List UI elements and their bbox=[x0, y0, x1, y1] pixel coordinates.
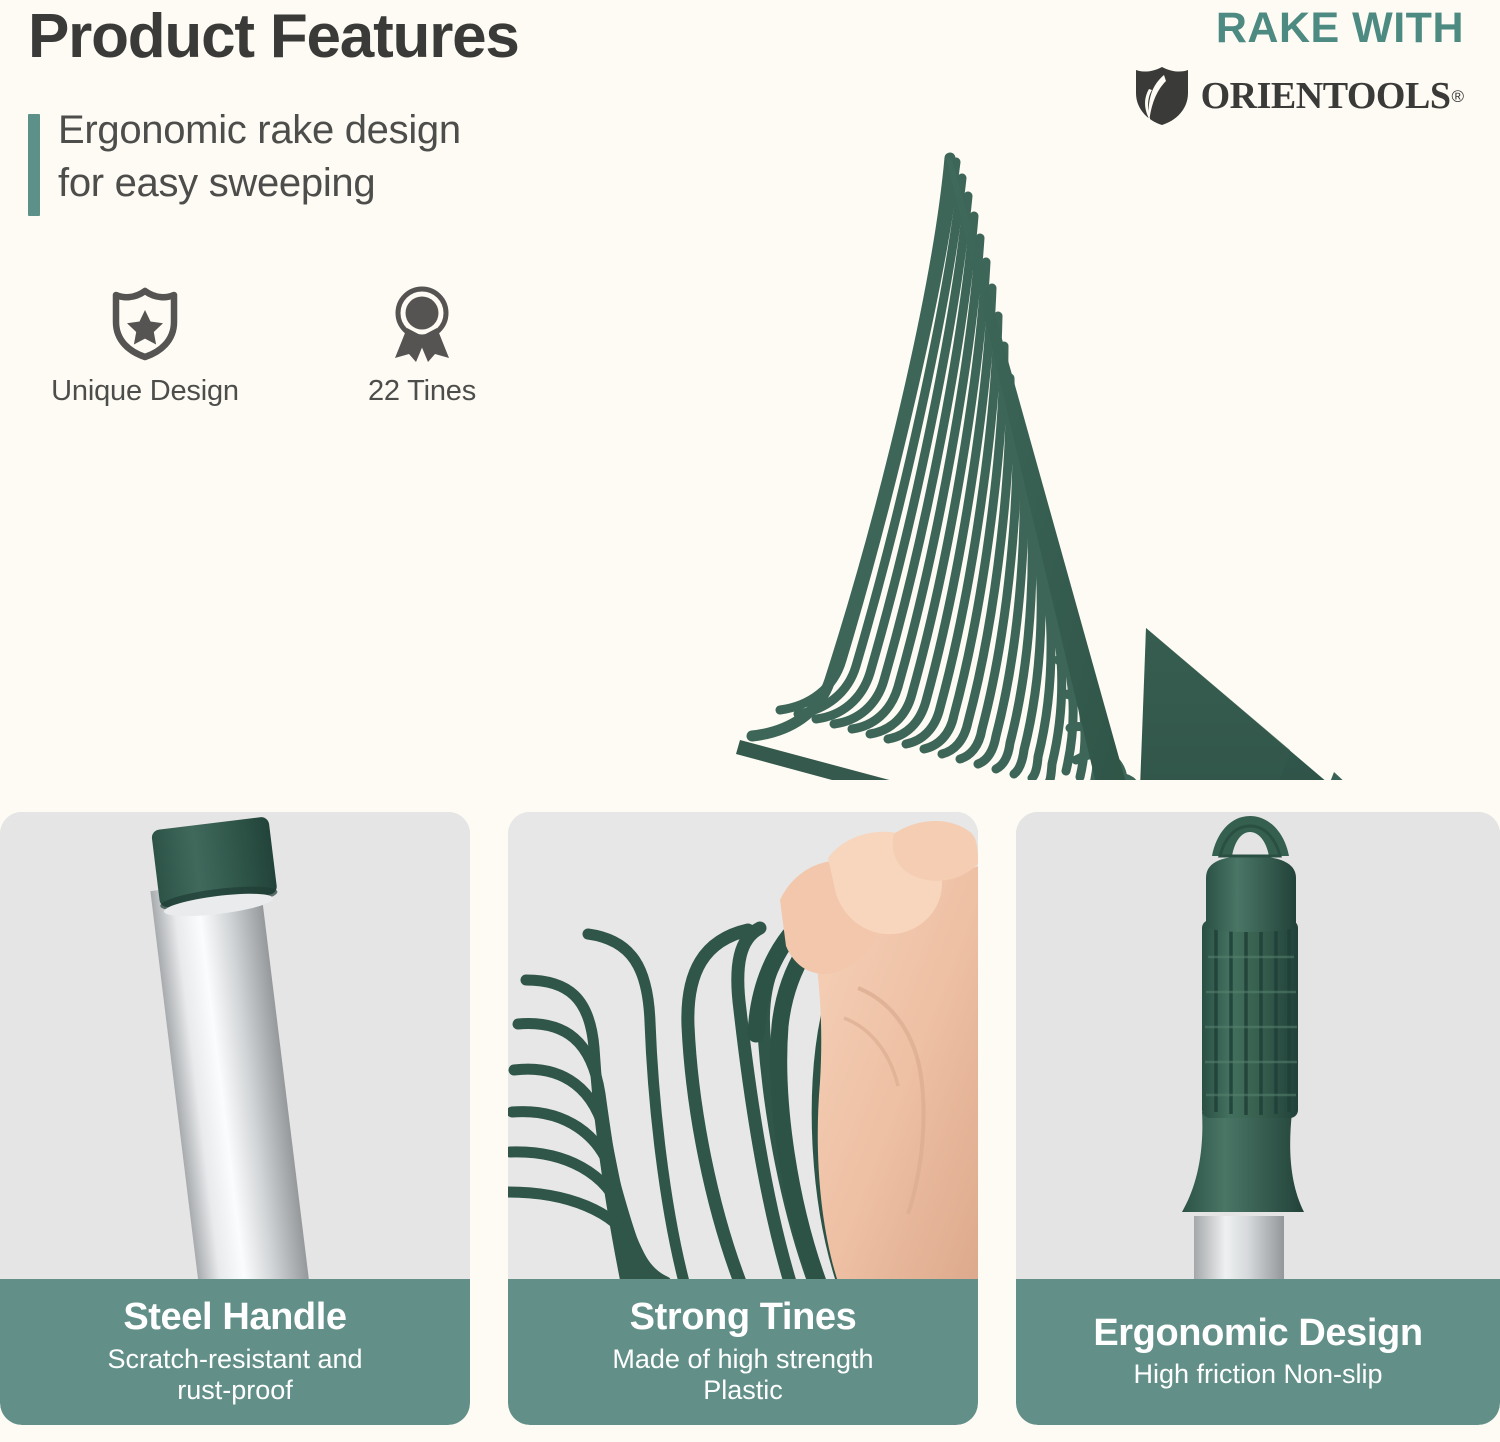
steel-handle-photo bbox=[0, 812, 470, 1282]
card-subtitle-line-2: rust-proof bbox=[107, 1375, 362, 1407]
feature-label: 22 Tines bbox=[312, 375, 532, 408]
card-title: Steel Handle bbox=[123, 1297, 346, 1339]
card-subtitle: Scratch-resistant and rust-proof bbox=[107, 1344, 362, 1408]
card-ergonomic-design[interactable]: Ergonomic Design High friction Non-slip bbox=[1016, 812, 1500, 1425]
card-title: Strong Tines bbox=[630, 1297, 857, 1339]
feature-cards-row: Steel Handle Scratch-resistant and rust-… bbox=[0, 812, 1500, 1442]
card-subtitle-line-1: Made of high strength bbox=[612, 1344, 873, 1376]
registered-trademark-symbol: ® bbox=[1451, 87, 1464, 106]
page-title: Product Features bbox=[28, 4, 519, 69]
page-subtitle: Ergonomic rake design for easy sweeping bbox=[58, 104, 461, 210]
card-title: Ergonomic Design bbox=[1093, 1313, 1422, 1355]
card-steel-handle[interactable]: Steel Handle Scratch-resistant and rust-… bbox=[0, 812, 470, 1425]
brand-lockup-container: RAKE WITH ORIENTOOLS® bbox=[1114, 6, 1464, 127]
subtitle-line-1: Ergonomic rake design bbox=[58, 104, 461, 157]
shield-star-icon bbox=[35, 285, 255, 363]
card-caption: Steel Handle Scratch-resistant and rust-… bbox=[0, 1279, 470, 1425]
shield-leaf-icon bbox=[1133, 65, 1191, 127]
award-ribbon-icon bbox=[312, 285, 532, 363]
accent-bar bbox=[28, 114, 40, 216]
ergonomic-grip-photo bbox=[1016, 812, 1500, 1282]
card-subtitle-line-2: Plastic bbox=[612, 1375, 873, 1407]
card-subtitle: High friction Non-slip bbox=[1133, 1359, 1382, 1391]
card-subtitle-line-1: Scratch-resistant and bbox=[107, 1344, 362, 1376]
feature-icon-row: Unique Design 22 Tines bbox=[0, 285, 560, 435]
subtitle-line-2: for easy sweeping bbox=[58, 157, 461, 210]
brand-logo-row: ORIENTOOLS® bbox=[1114, 65, 1464, 127]
hand-flexing-tines-photo bbox=[508, 812, 978, 1282]
rake-back-plate-upper bbox=[1142, 628, 1290, 780]
card-subtitle: Made of high strength Plastic bbox=[612, 1344, 873, 1408]
brand-tagline: RAKE WITH bbox=[1114, 6, 1464, 51]
card-strong-tines[interactable]: Strong Tines Made of high strength Plast… bbox=[508, 812, 978, 1425]
feature-unique-design: Unique Design bbox=[35, 285, 255, 408]
hero-product-image bbox=[590, 140, 1500, 780]
card-subtitle-line-1: High friction Non-slip bbox=[1133, 1359, 1382, 1391]
brand-name: ORIENTOOLS® bbox=[1201, 74, 1464, 118]
rake-ferrule bbox=[1320, 772, 1388, 780]
card-caption: Strong Tines Made of high strength Plast… bbox=[508, 1279, 978, 1425]
feature-label: Unique Design bbox=[35, 375, 255, 408]
brand-name-text: ORIENTOOLS bbox=[1201, 75, 1451, 117]
feature-22-tines: 22 Tines bbox=[312, 285, 532, 408]
card-caption: Ergonomic Design High friction Non-slip bbox=[1016, 1279, 1500, 1425]
